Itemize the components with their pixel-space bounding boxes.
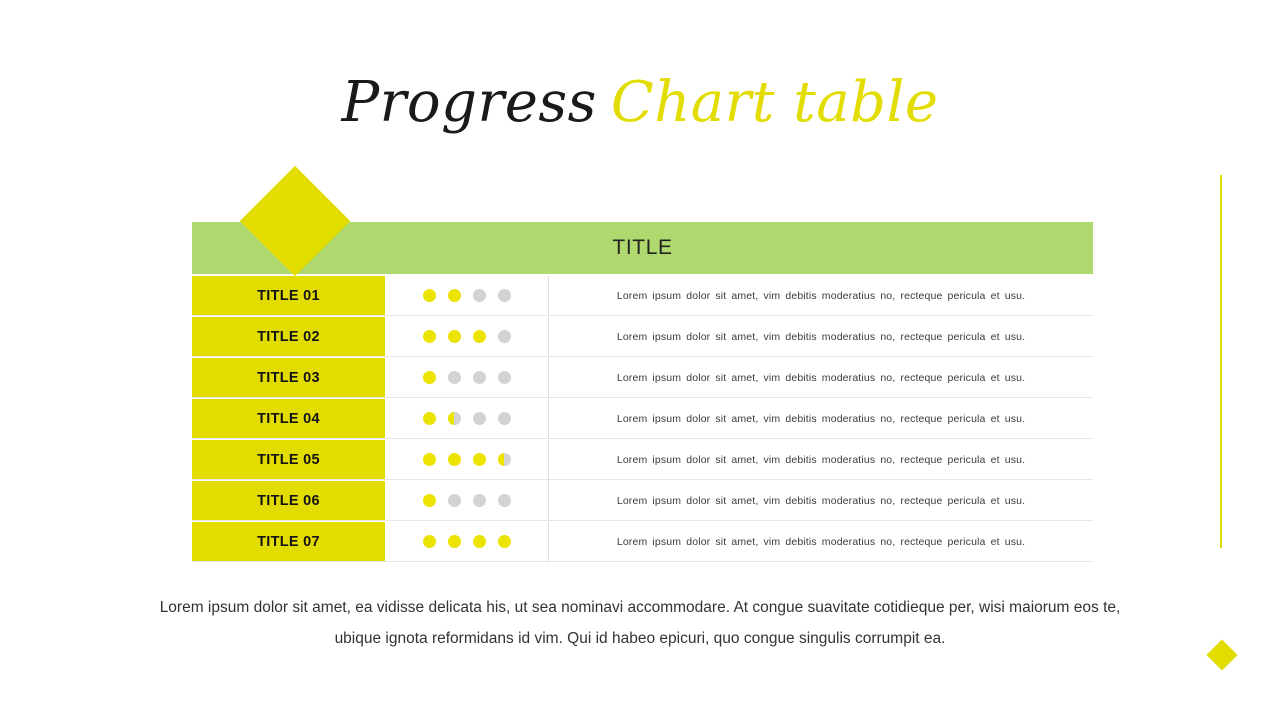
progress-dot-empty (498, 371, 511, 384)
table-row[interactable]: TITLE 02Lorem ipsum dolor sit amet, vim … (192, 317, 1093, 357)
diamond-decoration-bottom (1206, 639, 1237, 670)
table-row[interactable]: TITLE 01Lorem ipsum dolor sit amet, vim … (192, 276, 1093, 316)
progress-dot-half (498, 453, 511, 466)
footer-paragraph: Lorem ipsum dolor sit amet, ea vidisse d… (140, 592, 1140, 654)
row-label-cell: TITLE 02 (192, 317, 385, 356)
table-row[interactable]: TITLE 04Lorem ipsum dolor sit amet, vim … (192, 399, 1093, 439)
progress-dot-full (423, 330, 436, 343)
row-label-cell: TITLE 05 (192, 440, 385, 479)
progress-dot-empty (473, 494, 486, 507)
progress-dot-full (473, 330, 486, 343)
progress-dot-full (448, 289, 461, 302)
progress-dots-cell (385, 481, 549, 520)
progress-dot-empty (498, 330, 511, 343)
progress-dot-full (423, 494, 436, 507)
page-title: ProgressChart table (0, 72, 1280, 134)
progress-dot-full (473, 535, 486, 548)
row-label-cell: TITLE 03 (192, 358, 385, 397)
progress-dots-cell (385, 522, 549, 561)
progress-dots-cell (385, 440, 549, 479)
table-header-title: TITLE (612, 236, 672, 260)
table-row[interactable]: TITLE 03Lorem ipsum dolor sit amet, vim … (192, 358, 1093, 398)
row-description-cell: Lorem ipsum dolor sit amet, vim debitis … (549, 358, 1093, 397)
progress-dot-full (423, 371, 436, 384)
table-row[interactable]: TITLE 05Lorem ipsum dolor sit amet, vim … (192, 440, 1093, 480)
progress-dots-cell (385, 399, 549, 438)
row-description-cell: Lorem ipsum dolor sit amet, vim debitis … (549, 481, 1093, 520)
row-description-cell: Lorem ipsum dolor sit amet, vim debitis … (549, 317, 1093, 356)
progress-dot-empty (473, 289, 486, 302)
progress-dot-full (423, 453, 436, 466)
progress-dot-empty (448, 494, 461, 507)
row-description-cell: Lorem ipsum dolor sit amet, vim debitis … (549, 440, 1093, 479)
row-description-cell: Lorem ipsum dolor sit amet, vim debitis … (549, 522, 1093, 561)
progress-dot-empty (498, 494, 511, 507)
progress-dot-full (473, 453, 486, 466)
progress-dots-cell (385, 358, 549, 397)
row-label-cell: TITLE 04 (192, 399, 385, 438)
progress-dot-full (423, 412, 436, 425)
progress-dots-cell (385, 276, 549, 315)
page-title-accent: Chart table (611, 70, 939, 135)
table-row[interactable]: TITLE 07Lorem ipsum dolor sit amet, vim … (192, 522, 1093, 562)
progress-dot-half (448, 412, 461, 425)
progress-dot-full (423, 535, 436, 548)
progress-dot-full (423, 289, 436, 302)
progress-dot-empty (448, 371, 461, 384)
table-body: TITLE 01Lorem ipsum dolor sit amet, vim … (192, 274, 1093, 562)
row-label-cell: TITLE 06 (192, 481, 385, 520)
progress-dot-full (448, 453, 461, 466)
progress-dot-full (448, 330, 461, 343)
progress-dot-empty (498, 289, 511, 302)
progress-dot-full (498, 535, 511, 548)
progress-dot-full (448, 535, 461, 548)
progress-dot-empty (473, 412, 486, 425)
row-description-cell: Lorem ipsum dolor sit amet, vim debitis … (549, 399, 1093, 438)
progress-dot-empty (473, 371, 486, 384)
row-label-cell: TITLE 01 (192, 276, 385, 315)
progress-table: TITLE TITLE 01Lorem ipsum dolor sit amet… (192, 222, 1093, 562)
row-label-cell: TITLE 07 (192, 522, 385, 561)
table-row[interactable]: TITLE 06Lorem ipsum dolor sit amet, vim … (192, 481, 1093, 521)
row-description-cell: Lorem ipsum dolor sit amet, vim debitis … (549, 276, 1093, 315)
vertical-accent-line (1220, 175, 1222, 548)
progress-dot-empty (498, 412, 511, 425)
page-title-primary: Progress (341, 70, 596, 135)
progress-dots-cell (385, 317, 549, 356)
